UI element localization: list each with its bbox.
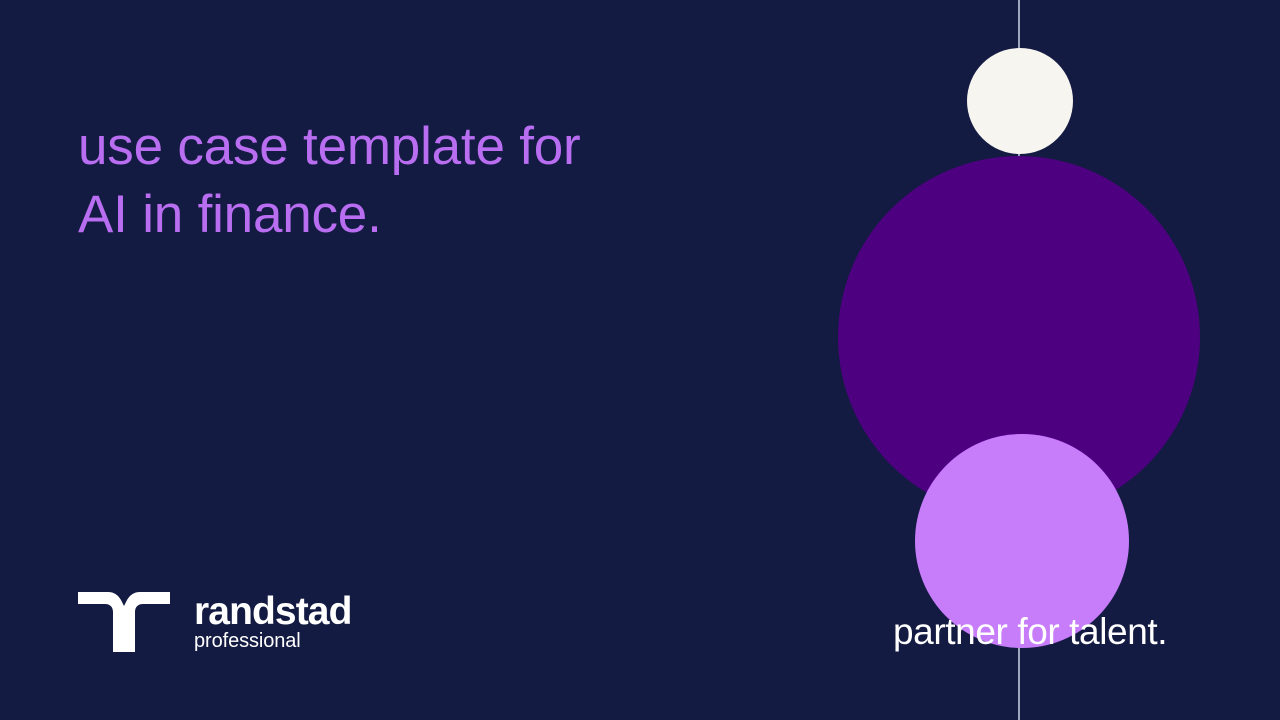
presentation-slide: use case template for AI in finance. ran… [0, 0, 1280, 720]
randstad-tiger-logo-icon [78, 592, 170, 652]
vivid-purple-overlap-decoration [915, 434, 1129, 518]
randstad-logo-lockup: randstad professional [78, 592, 352, 653]
brand-tagline: partner for talent. [893, 610, 1167, 654]
deep-purple-circle-decoration [838, 156, 1200, 518]
brand-division: professional [194, 630, 352, 653]
cream-circle-decoration [967, 48, 1073, 154]
brand-name: randstad [194, 593, 352, 630]
slide-headline: use case template for AI in finance. [78, 113, 698, 249]
randstad-wordmark: randstad professional [194, 592, 352, 653]
circle-overlap-lens [838, 156, 1200, 518]
